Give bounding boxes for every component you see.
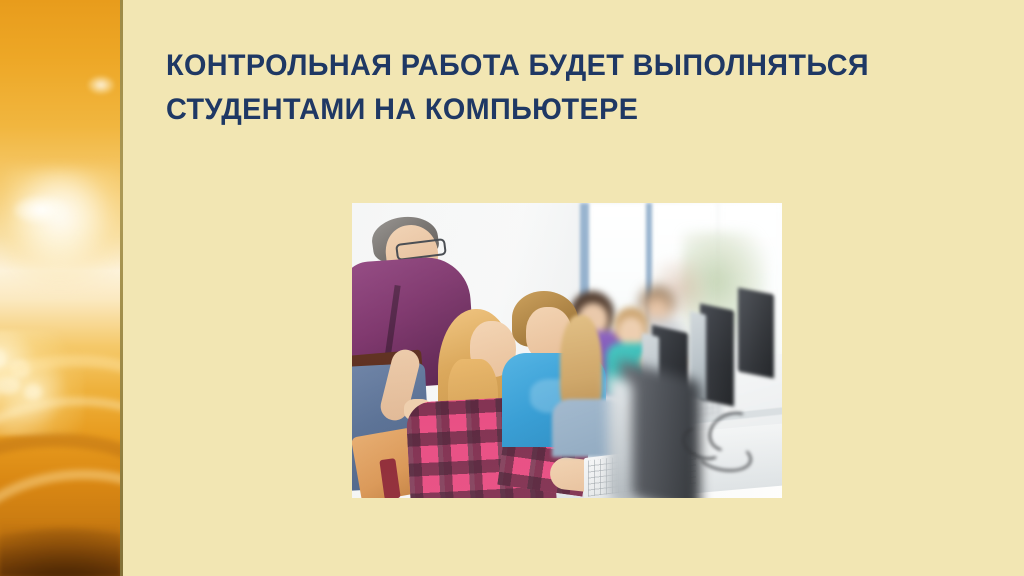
photo-monitor	[738, 288, 774, 379]
photo-monitor-foreground-screen	[608, 376, 632, 498]
strip-light-flare-core	[14, 196, 68, 224]
strip-bokeh-highlight-icon	[88, 76, 114, 94]
classroom-computer-lab-photo	[352, 203, 782, 498]
page-title: КОНТРОЛЬНАЯ РАБОТА БУДЕТ ВЫПОЛНЯТЬСЯ СТУ…	[166, 44, 876, 132]
crystal-facet	[0, 348, 6, 368]
strip-bottom-glass-base	[0, 528, 120, 576]
olive-vertical-rule	[120, 0, 123, 576]
strip-light-flare	[6, 168, 120, 288]
slide-canvas: КОНТРОЛЬНАЯ РАБОТА БУДЕТ ВЫПОЛНЯТЬСЯ СТУ…	[0, 0, 1024, 576]
amber-glass-decorative-strip	[0, 0, 120, 576]
